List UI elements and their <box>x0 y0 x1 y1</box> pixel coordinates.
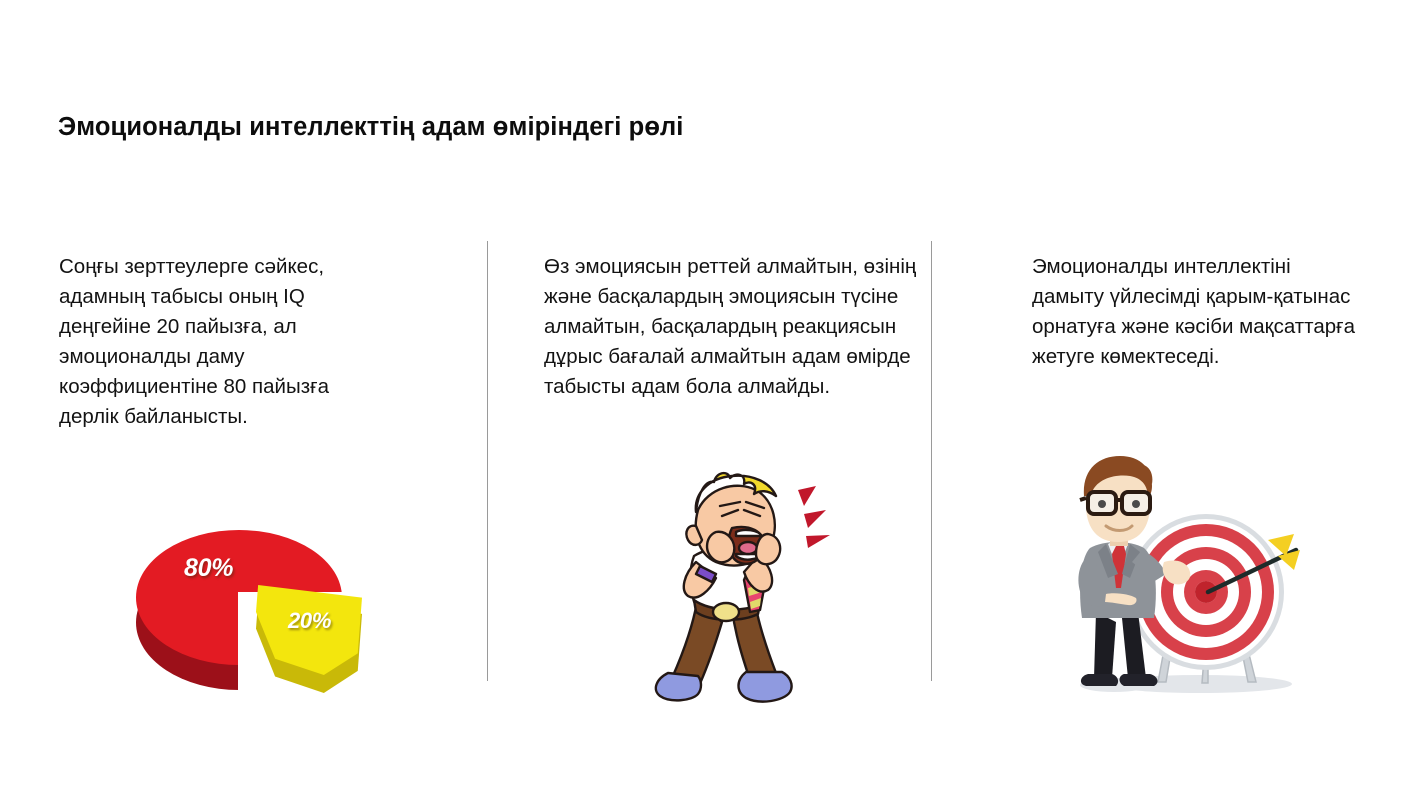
boy-left-shoe <box>656 673 701 700</box>
shouting-boy-svg <box>640 470 840 710</box>
boy-right-shoe <box>739 672 792 702</box>
businessman-target-svg <box>1072 452 1302 697</box>
column-divider-1 <box>487 241 488 681</box>
boy-left-hand <box>707 532 734 562</box>
shout-lines-icon <box>798 486 830 548</box>
pie-label-80: 80% <box>184 554 233 583</box>
man-left-shoe <box>1081 674 1118 686</box>
content-column-2: Өз эмоциясын реттей алмайтын, өзінің жән… <box>544 252 929 402</box>
pie-chart-3d: 80% 20% <box>128 508 378 698</box>
boy-belt-buckle <box>713 603 739 621</box>
slide-canvas: Эмоционалды интеллекттің адам өміріндегі… <box>0 0 1424 800</box>
column-1-text: Соңғы зерттеулерге сәйкес, адамның табыс… <box>59 252 389 432</box>
shouting-boy-illustration <box>640 470 840 710</box>
man-left-eye <box>1098 500 1106 508</box>
pie-chart-body <box>128 508 378 698</box>
content-column-3: Эмоционалды интеллектіні дамыту үйлесімд… <box>1032 252 1372 372</box>
column-2-text: Өз эмоциясын реттей алмайтын, өзінің жән… <box>544 252 924 402</box>
boy-tongue <box>739 542 757 554</box>
column-3-text: Эмоционалды интеллектіні дамыту үйлесімд… <box>1032 252 1362 372</box>
man-left-leg <box>1094 612 1116 678</box>
content-column-1: Соңғы зерттеулерге сәйкес, адамның табыс… <box>59 252 404 432</box>
pie-label-20: 20% <box>288 608 331 634</box>
businessman-target-illustration <box>1072 452 1302 697</box>
boy-right-hand <box>756 534 780 564</box>
column-divider-2 <box>931 241 932 681</box>
page-title: Эмоционалды интеллекттің адам өміріндегі… <box>58 113 1258 142</box>
man-right-shoe <box>1120 674 1158 686</box>
man-right-eye <box>1132 500 1140 508</box>
